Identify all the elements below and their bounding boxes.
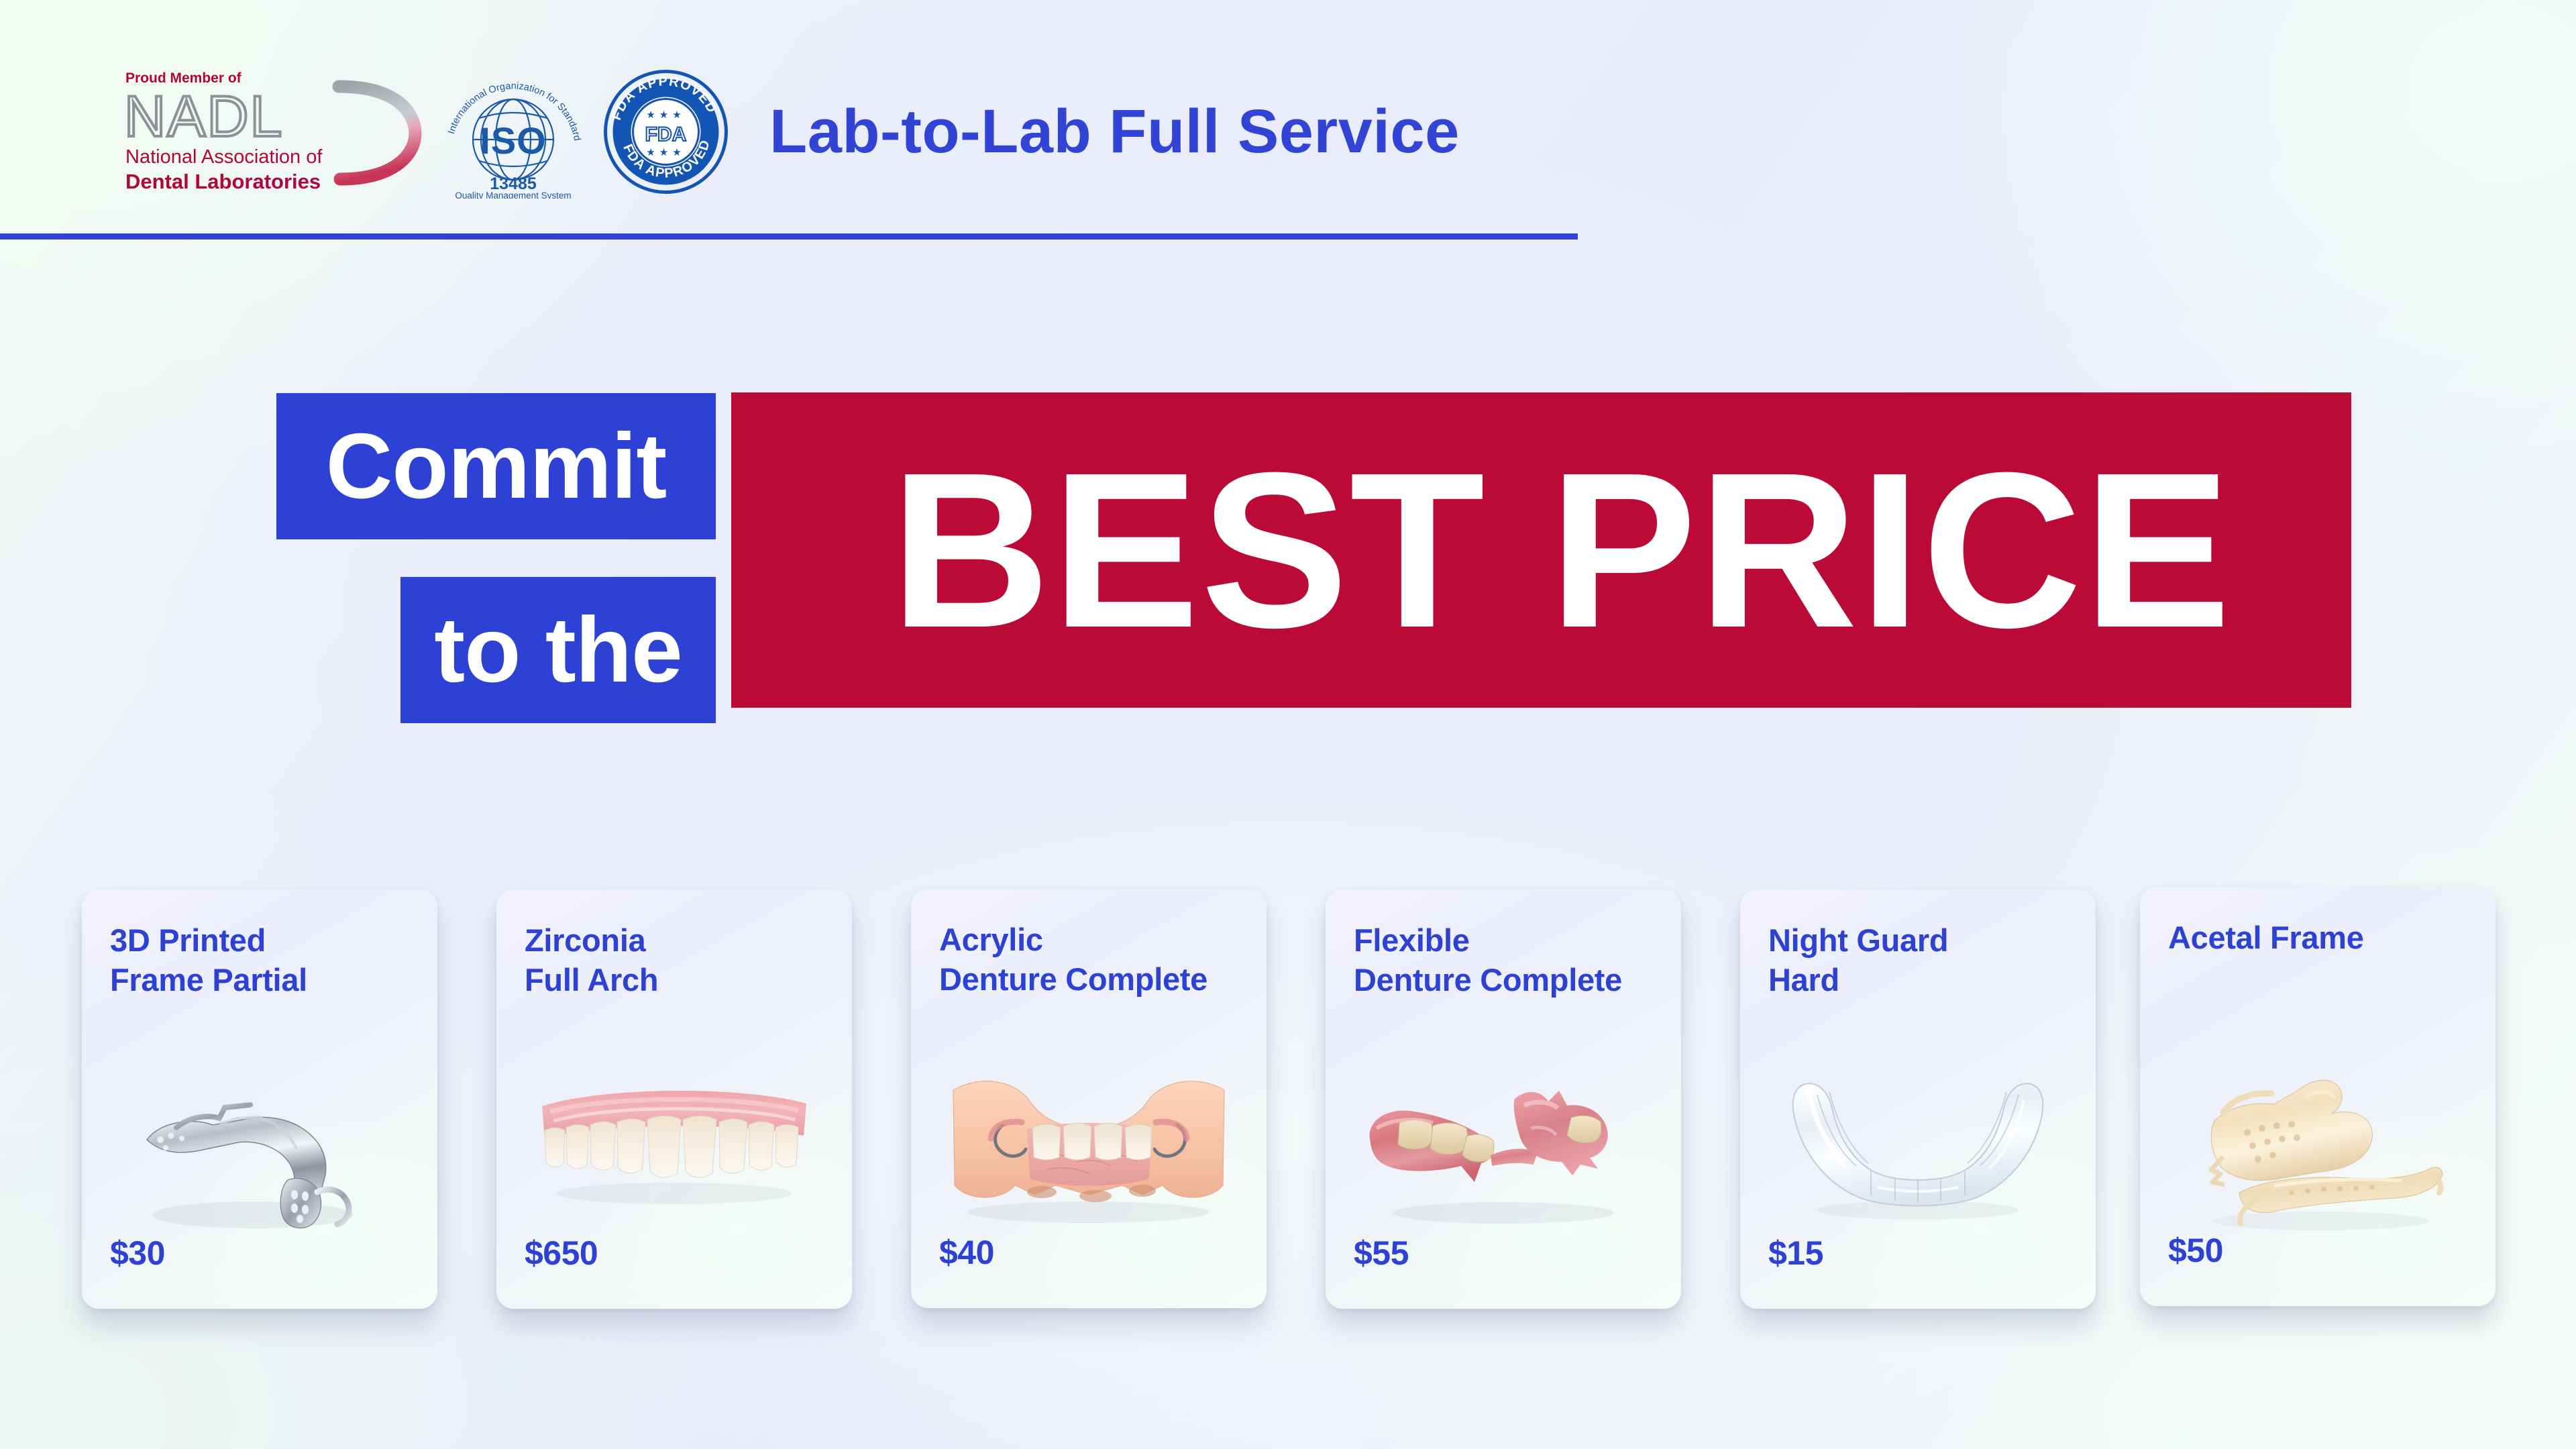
product-card[interactable]: Zirconia Full Arch [496, 890, 852, 1309]
zirconia-full-arch-photo [496, 1044, 852, 1252]
iso-caption-text: Quality Management System [455, 191, 571, 199]
page-header: Proud Member of NADL National Associatio… [0, 0, 2576, 236]
fda-approved-badge: FDA APPROVED FDA APPROVED ★★★ ★★★ FDA [604, 70, 728, 194]
nadl-line2-text: Dental Laboratories [125, 170, 321, 193]
product-title-line1: Acetal Frame [2168, 918, 2483, 957]
nadl-proud-member-text: Proud Member of [125, 70, 242, 86]
headline-line1-text: Commit [326, 420, 667, 513]
headline-blue-box-1: Commit [276, 393, 716, 539]
product-title: Acetal Frame [2168, 918, 2483, 957]
headline-emphasis-text: BEST PRICE [731, 392, 2351, 708]
headline-blue-box-2: to the [400, 577, 716, 723]
nadl-swoosh-icon [320, 68, 427, 195]
headline-line2-text: to the [434, 604, 682, 696]
product-card[interactable]: Flexible Denture Complete [1326, 890, 1681, 1309]
nadl-line1-text: National Association of [125, 146, 323, 168]
headline-banner: BEST PRICE Commit to the [0, 376, 2576, 711]
acetal-frame-photo [2140, 1041, 2495, 1249]
product-title: Flexible Denture Complete [1354, 920, 1669, 1000]
product-title-line1: Zirconia [525, 920, 840, 960]
acrylic-denture-photo [911, 1043, 1267, 1251]
product-price: $30 [110, 1234, 165, 1273]
product-title-line2: Denture Complete [939, 959, 1254, 999]
product-price: $55 [1354, 1234, 1409, 1273]
product-card[interactable]: 3D Printed Frame Partial [82, 890, 437, 1309]
svg-text:★★★: ★★★ [646, 109, 685, 121]
iso-acronym-text: ISO [480, 119, 546, 162]
product-price: $650 [525, 1234, 598, 1273]
product-card-list: 3D Printed Frame Partial [0, 887, 2576, 1356]
nadl-logo: Proud Member of NADL National Associatio… [124, 68, 325, 195]
product-title: 3D Printed Frame Partial [110, 920, 425, 1000]
night-guard-photo [1740, 1044, 2096, 1252]
product-title-line1: Night Guard [1768, 920, 2084, 960]
product-card[interactable]: Acrylic Denture Complete [911, 889, 1267, 1308]
product-price: $40 [939, 1233, 994, 1272]
product-card[interactable]: Acetal Frame [2140, 887, 2495, 1306]
product-title-line2: Hard [1768, 960, 2084, 1000]
product-title-line1: Flexible [1354, 920, 1669, 960]
product-title: Zirconia Full Arch [525, 920, 840, 1000]
product-price: $50 [2168, 1231, 2223, 1270]
flexible-denture-photo [1326, 1044, 1681, 1252]
product-title: Night Guard Hard [1768, 920, 2084, 1000]
product-title-line1: 3D Printed [110, 920, 425, 960]
header-divider [0, 233, 1578, 239]
iso-13485-badge: International Organization for Standardi… [438, 64, 589, 199]
product-title-line2: Frame Partial [110, 960, 425, 1000]
metal-partial-frame-photo [82, 1044, 437, 1252]
fda-center-text: FDA [645, 123, 687, 146]
product-title-line2: Denture Complete [1354, 960, 1669, 1000]
product-title-line2: Full Arch [525, 960, 840, 1000]
product-title: Acrylic Denture Complete [939, 920, 1254, 999]
product-price: $15 [1768, 1234, 1823, 1273]
product-card[interactable]: Night Guard Hard [1740, 890, 2096, 1309]
product-title-line1: Acrylic [939, 920, 1254, 959]
brand-title: Lab-to-Lab Full Service [769, 101, 1460, 162]
nadl-acronym-text: NADL [124, 85, 283, 149]
svg-text:★★★: ★★★ [646, 147, 685, 158]
headline-red-banner: BEST PRICE [731, 392, 2351, 708]
